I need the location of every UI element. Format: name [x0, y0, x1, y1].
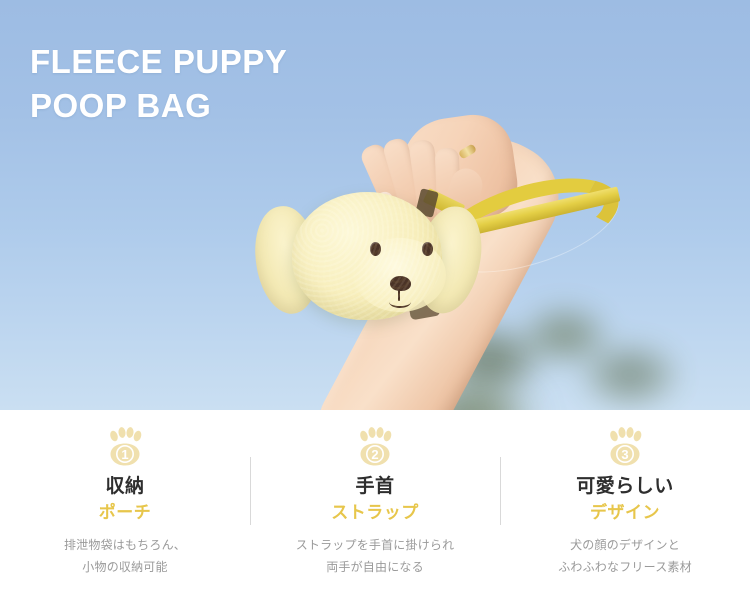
- paw-icon: 2: [353, 427, 397, 467]
- hero-title-line-1: FLEECE PUPPY: [30, 40, 287, 84]
- paw-badge-number: 2: [371, 447, 378, 462]
- feature-row: 1 収納 ポーチ 排泄物袋はもちろん、 小物の収納可能 2 手首 ストラップ: [0, 410, 750, 607]
- feature-title: 収納: [0, 475, 250, 499]
- puppy-pouch-product: [258, 186, 488, 331]
- feature-description: 排泄物袋はもちろん、 小物の収納可能: [0, 534, 250, 578]
- feature-description-line-1: 犬の顔のデザインと: [500, 534, 750, 556]
- product-banner: FLEECE PUPPY POOP BAG 1 収納 ポーチ 排泄物袋はもちろん…: [0, 0, 750, 607]
- feature-subtitle: デザイン: [500, 501, 750, 525]
- paw-badge-number: 1: [121, 447, 128, 462]
- feature-title: 可愛らしい: [500, 475, 750, 499]
- feature-subtitle: ポーチ: [0, 501, 250, 525]
- hero-title-line-2: POOP BAG: [30, 84, 287, 128]
- hero-title: FLEECE PUPPY POOP BAG: [30, 40, 287, 127]
- puppy-mouth-curve-icon: [389, 296, 411, 308]
- feature-title: 手首: [250, 475, 500, 499]
- feature-description-line-2: 両手が自由になる: [250, 556, 500, 578]
- paw-icon: 3: [603, 427, 647, 467]
- feature-description-line-1: 排泄物袋はもちろん、: [0, 534, 250, 556]
- feature-description-line-2: ふわふわなフリース素材: [500, 556, 750, 578]
- puppy-eye-left-icon: [370, 242, 381, 256]
- puppy-eye-right-icon: [422, 242, 433, 256]
- puppy-head: [292, 192, 442, 320]
- feature-item-2: 2 手首 ストラップ ストラップを手首に掛けられ 両手が自由になる: [250, 410, 500, 578]
- feature-description: 犬の顔のデザインと ふわふわなフリース素材: [500, 534, 750, 578]
- feature-description-line-2: 小物の収納可能: [0, 556, 250, 578]
- paw-badge-number: 3: [621, 447, 628, 462]
- feature-description-line-1: ストラップを手首に掛けられ: [250, 534, 500, 556]
- puppy-nose-icon: [390, 276, 412, 292]
- feature-subtitle: ストラップ: [250, 501, 500, 525]
- feature-item-3: 3 可愛らしい デザイン 犬の顔のデザインと ふわふわなフリース素材: [500, 410, 750, 578]
- feature-description: ストラップを手首に掛けられ 両手が自由になる: [250, 534, 500, 578]
- feature-item-1: 1 収納 ポーチ 排泄物袋はもちろん、 小物の収納可能: [0, 410, 250, 578]
- paw-icon: 1: [103, 427, 147, 467]
- hero-photo: FLEECE PUPPY POOP BAG: [0, 0, 750, 410]
